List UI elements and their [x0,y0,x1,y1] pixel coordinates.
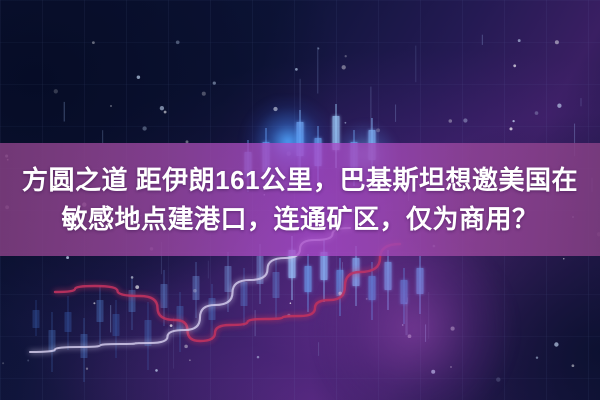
sparkle-dot [213,81,216,84]
sparkle-dot [535,111,539,115]
candle-body [33,310,40,328]
sparkle-dot [345,55,347,57]
sparkle-dot [202,92,206,96]
headline-line-2: 敏感地点建港口，连通矿区，仅为商用？ [61,202,538,236]
thumbnail-canvas: 方圆之道 距伊朗161公里，巴基斯坦想邀美国在 敏感地点建港口，连通矿区，仅为商… [0,0,600,400]
candle-body [225,266,232,292]
candle-body [273,272,280,298]
sparkle-dot [54,89,58,93]
sparkle-dot [193,289,196,292]
sparkle-dot [563,258,564,259]
sparkle-dot [137,75,140,78]
sparkle-dot [189,359,191,361]
sparkle-dot [155,369,158,372]
sparkle-dot [509,127,512,130]
candle-body [97,300,104,322]
candle-body [113,314,120,336]
sparkle-dot [295,68,298,71]
sparkle-dot [290,302,292,304]
sparkle-dot [160,106,164,110]
sparkle-dot [555,40,559,44]
sparkle-dot [572,364,575,367]
sparkle-dot [184,345,188,349]
sparkle-dot [342,65,346,69]
magenta-glow [300,250,530,400]
sparkle-dot [27,360,29,362]
sparkle-dot [449,119,453,123]
sparkle-dot [170,324,173,327]
sparkle-dot [2,362,4,364]
sparkle-dot [554,342,558,346]
headline-banner: 方圆之道 距伊朗161公里，巴基斯坦想邀美国在 敏感地点建港口，连通矿区，仅为商… [0,143,600,256]
candle-body [177,306,184,330]
sparkle-dot [92,41,95,44]
sparkle-dot [110,105,112,107]
sparkle-dot [557,104,561,108]
sparkle-dot [86,368,88,370]
sparkle-dot [512,120,514,122]
sparkle-dot [93,302,95,304]
candle-body [241,282,248,306]
headline-line-1: 方圆之道 距伊朗161公里，巴基斯坦想邀美国在 [22,163,578,197]
sparkle-dot [463,118,467,122]
headline-banner-content: 方圆之道 距伊朗161公里，巴基斯坦想邀美国在 敏感地点建港口，连通矿区，仅为商… [0,143,600,256]
candle-body [193,276,200,300]
sparkle-dot [66,256,69,259]
sparkle-dot [513,64,516,67]
sparkle-dot [536,356,538,358]
sparkle-dot [135,285,139,289]
sparkle-dot [176,40,180,44]
sparkle-dot [518,39,521,42]
candle-body [129,290,136,312]
sparkle-dot [257,356,260,359]
candle-body [65,312,72,332]
sparkle-dot [142,126,146,130]
sparkle-dot [164,111,167,114]
sparkle-dot [131,276,134,279]
candle-body [161,284,168,308]
candle-body [209,298,216,320]
